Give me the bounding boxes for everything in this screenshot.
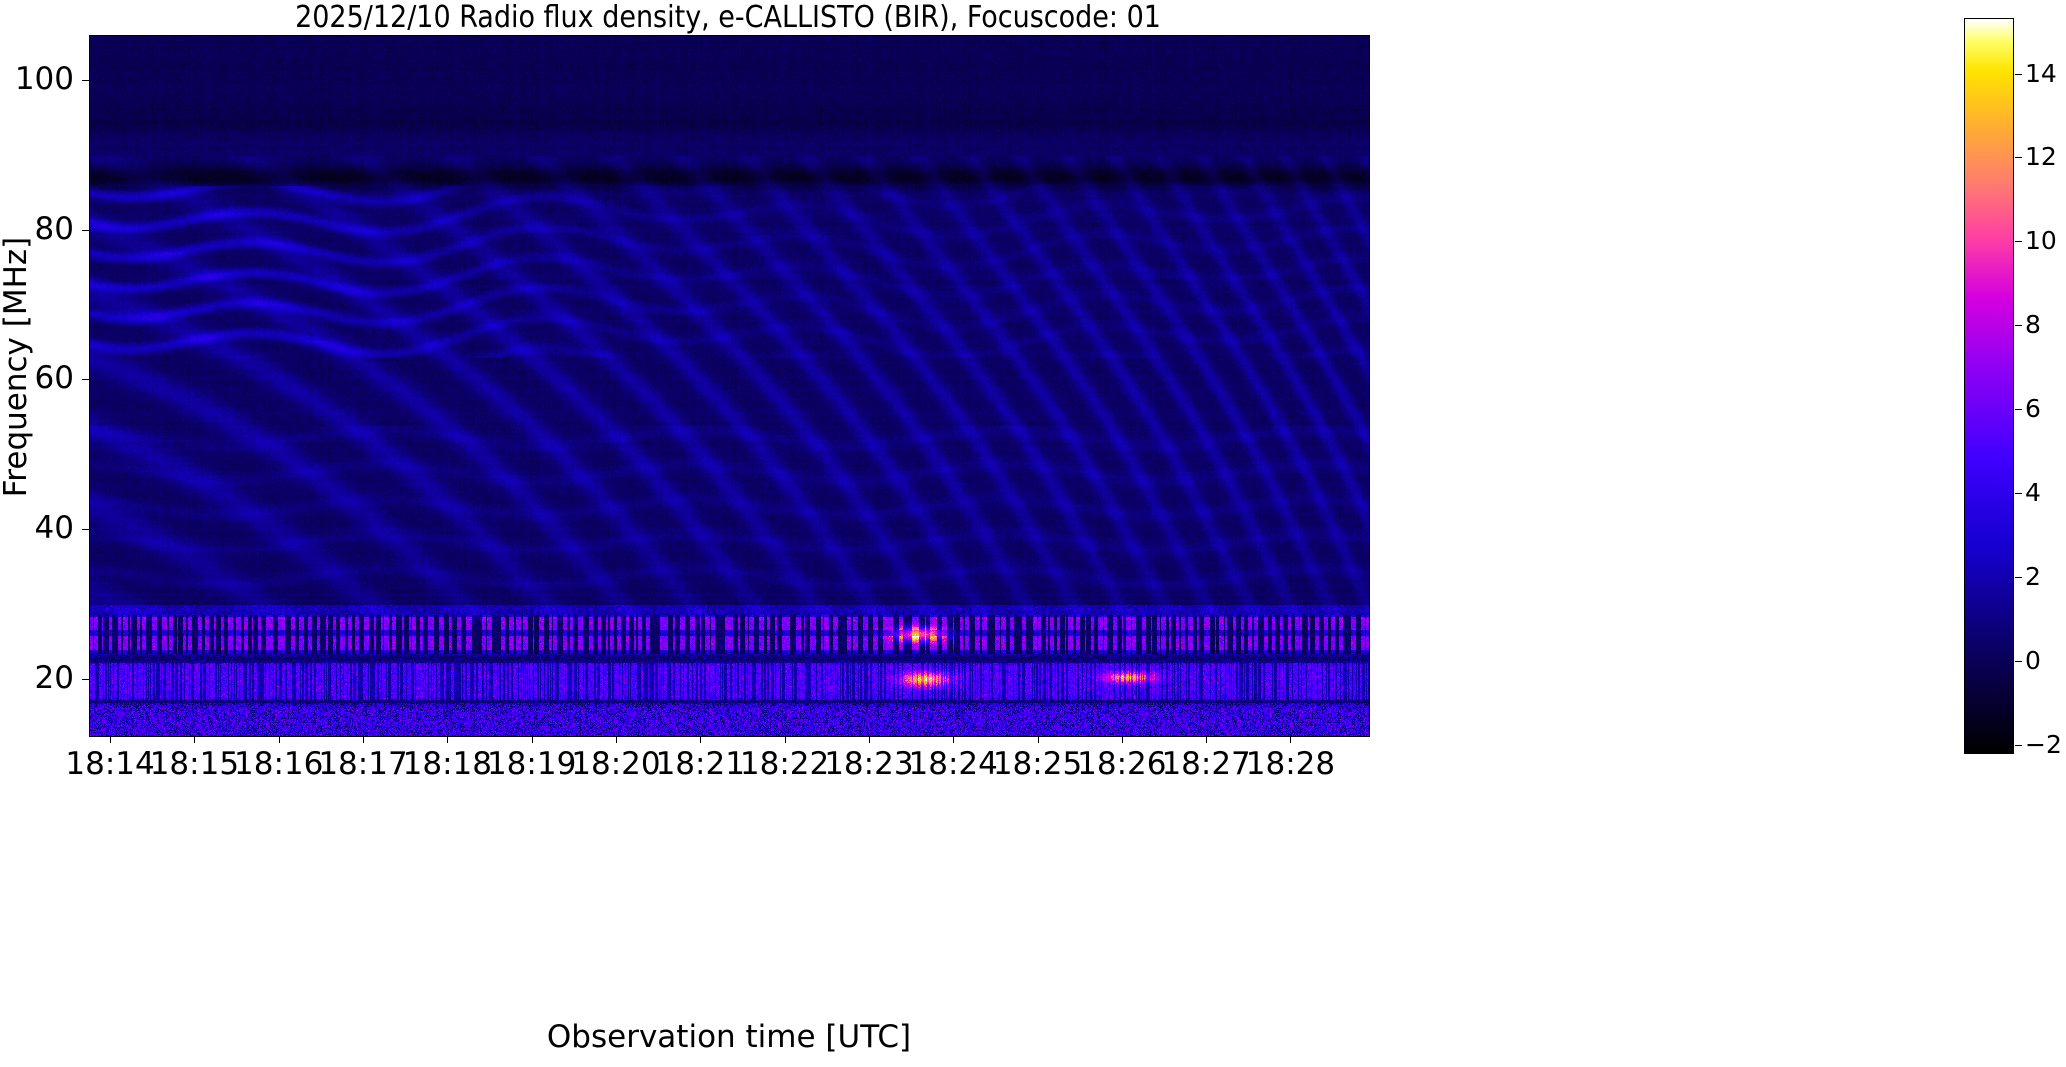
x-tick-mark (1290, 736, 1291, 743)
colorbar-tick-label: 10 (2025, 228, 2066, 253)
x-tick-mark (785, 736, 786, 743)
x-axis-label: Observation time [UTC] (89, 1018, 1369, 1056)
y-tick-label: 20 (0, 663, 74, 694)
colorbar-tick-label: −2 (2025, 732, 2066, 757)
y-tick-mark (82, 379, 89, 380)
y-tick-label: 100 (0, 64, 74, 95)
colorbar-tick-mark (2015, 493, 2022, 494)
x-tick-mark (953, 736, 954, 743)
plot-area (89, 35, 1370, 737)
colorbar-tick-mark (2015, 409, 2022, 410)
colorbar-tick-mark (2015, 661, 2022, 662)
colorbar-tick-label: 14 (2025, 61, 2066, 86)
colorbar-tick-label: 2 (2025, 564, 2066, 589)
spectrogram-image (90, 36, 1369, 736)
x-tick-mark (194, 736, 195, 743)
x-tick-mark (363, 736, 364, 743)
colorbar-tick-mark (2015, 157, 2022, 158)
spectrogram-figure: 2025/12/10 Radio flux density, e-CALLIST… (0, 0, 2066, 1067)
x-tick-mark (1122, 736, 1123, 743)
y-tick-label: 80 (0, 214, 74, 245)
figure-title: 2025/12/10 Radio flux density, e-CALLIST… (88, 2, 1368, 34)
colorbar-tick-mark (2015, 745, 2022, 746)
x-tick-mark (532, 736, 533, 743)
x-axis: 18:1418:1518:1618:1718:1818:1918:2018:21… (89, 736, 1370, 796)
x-tick-mark (700, 736, 701, 743)
colorbar-tick-label: 8 (2025, 312, 2066, 337)
y-tick-mark (82, 679, 89, 680)
colorbar-tick-label: 0 (2025, 648, 2066, 673)
colorbar-gradient (1965, 19, 2013, 753)
colorbar-tick-mark (2015, 577, 2022, 578)
colorbar: −202468101214 (1964, 18, 2014, 754)
y-tick-mark (82, 529, 89, 530)
colorbar-tick-mark (2015, 241, 2022, 242)
x-tick-mark (1038, 736, 1039, 743)
colorbar-tick-mark (2015, 325, 2022, 326)
x-tick-mark (447, 736, 448, 743)
y-tick-mark (82, 230, 89, 231)
colorbar-tick-label: 4 (2025, 480, 2066, 505)
y-tick-label: 40 (0, 513, 74, 544)
x-tick-mark (279, 736, 280, 743)
y-axis (89, 35, 90, 737)
x-tick-mark (869, 736, 870, 743)
x-tick-mark (616, 736, 617, 743)
y-tick-mark (82, 80, 89, 81)
y-tick-label: 60 (0, 363, 74, 394)
x-tick-mark (1206, 736, 1207, 743)
colorbar-tick-mark (2015, 74, 2022, 75)
x-tick-label: 18:28 (1200, 748, 1380, 781)
x-tick-mark (110, 736, 111, 743)
colorbar-tick-label: 6 (2025, 396, 2066, 421)
colorbar-tick-label: 12 (2025, 144, 2066, 169)
